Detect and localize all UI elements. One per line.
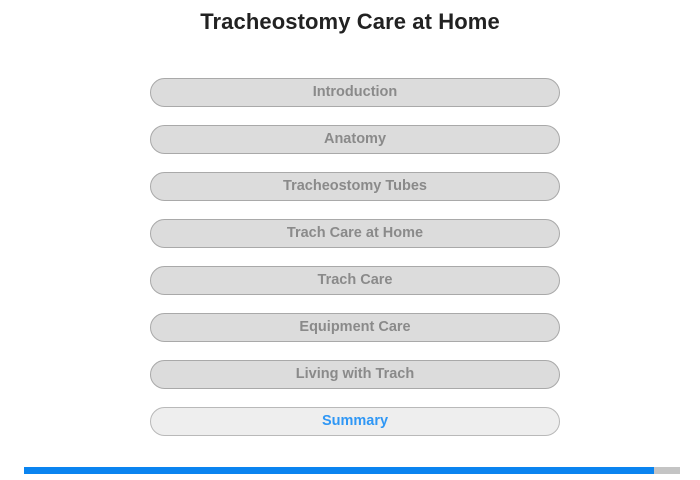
menu-button-living-with-trach[interactable]: Living with Trach <box>150 360 560 389</box>
section-menu-list: Introduction Anatomy Tracheostomy Tubes … <box>150 78 560 436</box>
menu-button-trach-care-at-home[interactable]: Trach Care at Home <box>150 219 560 248</box>
menu-button-equipment-care[interactable]: Equipment Care <box>150 313 560 342</box>
menu-button-introduction[interactable]: Introduction <box>150 78 560 107</box>
page-title: Tracheostomy Care at Home <box>0 8 700 36</box>
menu-button-summary[interactable]: Summary <box>150 407 560 436</box>
progress-bar-fill <box>24 467 654 474</box>
menu-button-tracheostomy-tubes[interactable]: Tracheostomy Tubes <box>150 172 560 201</box>
slide-root: Tracheostomy Care at Home Introduction A… <box>0 0 700 480</box>
menu-button-anatomy[interactable]: Anatomy <box>150 125 560 154</box>
progress-bar-track[interactable] <box>24 467 680 474</box>
menu-button-trach-care[interactable]: Trach Care <box>150 266 560 295</box>
